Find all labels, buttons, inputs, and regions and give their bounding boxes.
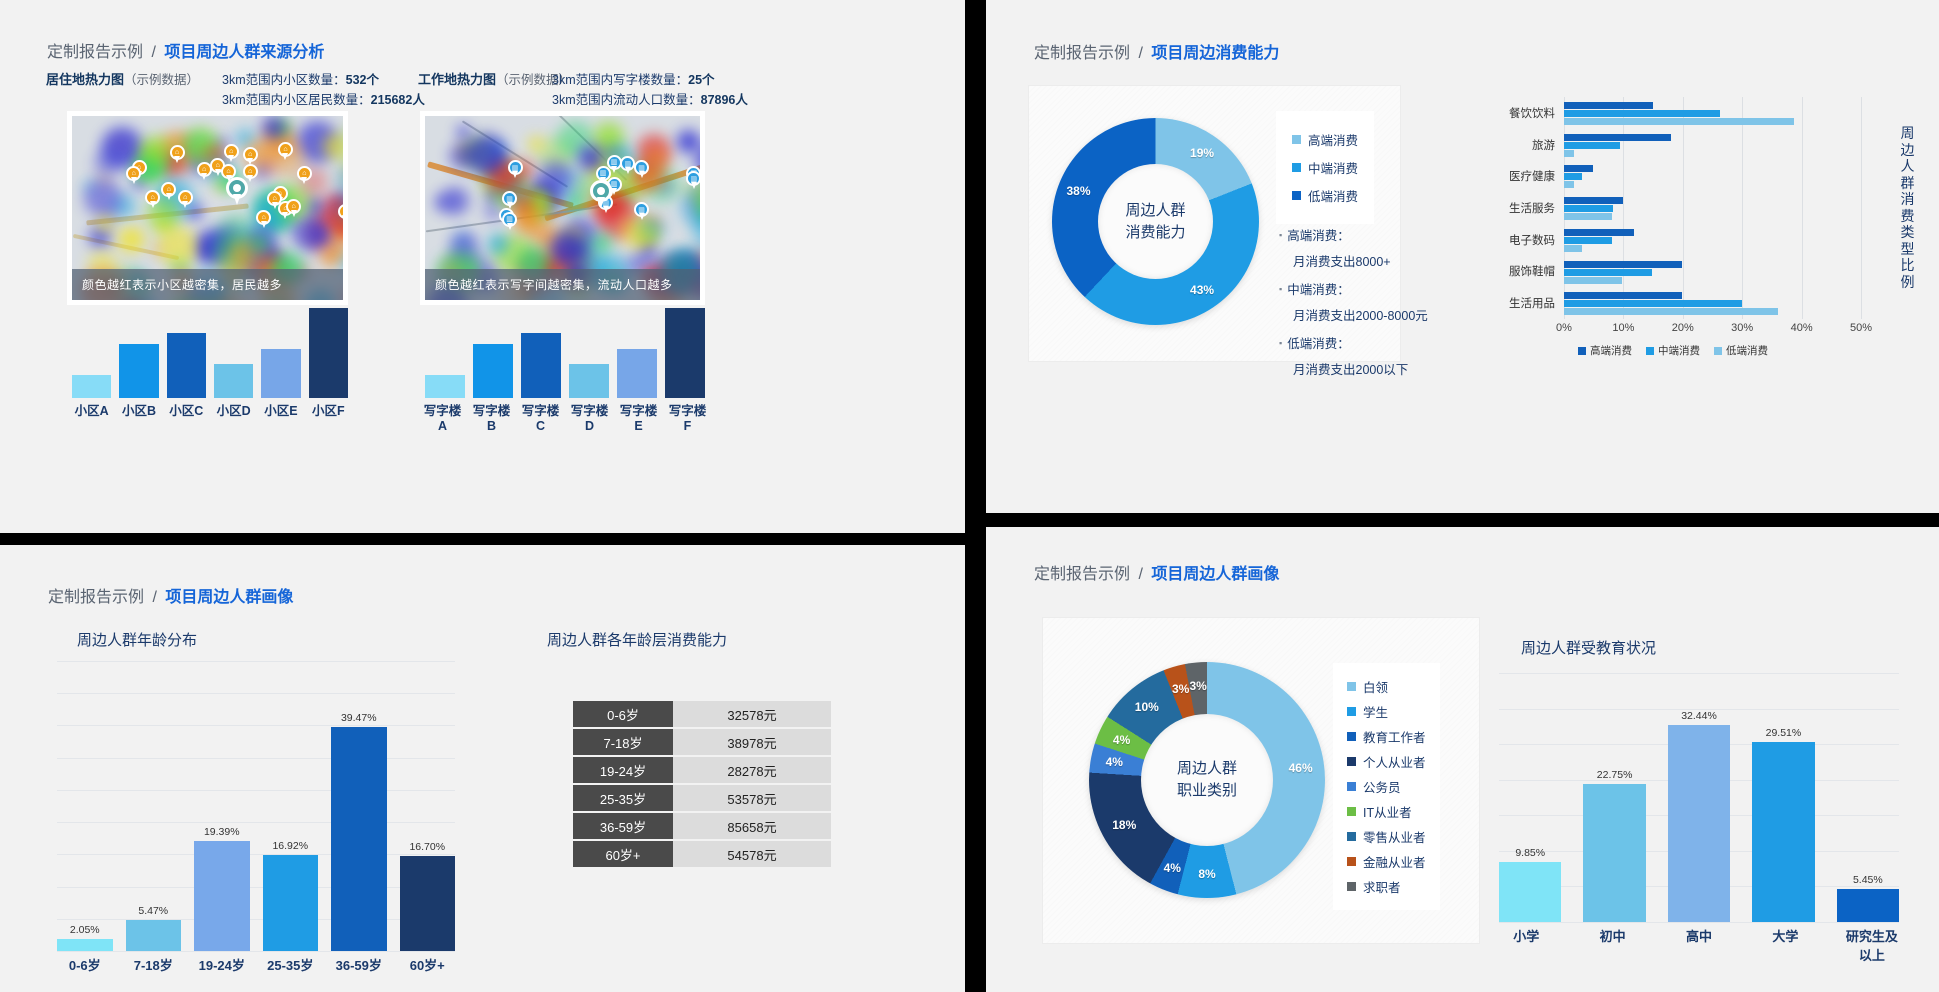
heat-blob <box>118 226 145 253</box>
legend-swatch <box>1347 732 1356 741</box>
bar[interactable] <box>261 349 300 399</box>
residential-stat-2: 3km范围内小区居民数量：215682人 <box>222 89 425 108</box>
bar-column[interactable]: 2.05% <box>57 661 113 951</box>
donut-slice-percent: 19% <box>1190 146 1214 160</box>
panel-portrait-occupation: 定制报告示例 / 项目周边人群画像 46%8%4%18%4%4%10%3%3% … <box>986 527 1939 992</box>
bar-column[interactable]: 32.44% <box>1668 673 1730 922</box>
bar-column[interactable]: 19.39% <box>194 661 250 951</box>
bar[interactable] <box>72 375 111 398</box>
bar[interactable] <box>665 308 705 398</box>
bar-category-label: 写字楼C <box>520 400 561 433</box>
work-bar-chart <box>425 308 705 398</box>
breadcrumb-prefix: 定制报告示例 <box>47 44 143 61</box>
table-row: 25-35岁53578元 <box>573 785 831 811</box>
breadcrumb-consumption: 定制报告示例 / 项目周边消费能力 <box>1034 39 1279 63</box>
bar[interactable] <box>1668 725 1730 922</box>
donut-slice-percent: 4% <box>1106 755 1123 769</box>
breadcrumb-portrait-left: 定制报告示例 / 项目周边人群画像 <box>48 583 293 607</box>
donut-slice-percent: 10% <box>1135 700 1159 714</box>
bar-category-label: 生活服务 <box>1486 200 1555 216</box>
bullet-group: 低端消费：月消费支出2000以下 <box>1279 333 1428 378</box>
bar[interactable] <box>167 333 206 398</box>
bar[interactable] <box>1564 261 1682 268</box>
legend-swatch <box>1292 135 1301 144</box>
work-title: 工作地热力图 <box>418 72 496 87</box>
bar-value-label: 2.05% <box>70 924 100 936</box>
legend-label: 学生 <box>1363 702 1388 721</box>
bullet-group: 高端消费：月消费支出8000+ <box>1279 225 1428 270</box>
legend-item[interactable]: 个人从业者 <box>1347 752 1426 771</box>
bar-value-label: 16.70% <box>409 841 445 853</box>
legend-swatch <box>1347 682 1356 691</box>
donut-center-line-2: 职业类别 <box>1177 780 1237 802</box>
residential-bar-labels: 小区A小区B小区C小区D小区E小区F <box>72 400 348 419</box>
bar-category-label: 高中 <box>1667 926 1731 964</box>
heat-blob <box>331 243 343 259</box>
table-cell-key: 60岁+ <box>573 841 673 867</box>
legend-label: 高端消费 <box>1308 130 1358 149</box>
bar-value-label: 5.47% <box>138 905 168 917</box>
legend-label: 高端消费 <box>1590 343 1632 358</box>
bar-category-label: 研究生及以上 <box>1840 926 1904 964</box>
residential-marker[interactable]: ⌂ <box>197 162 212 181</box>
legend-label: 白领 <box>1363 677 1388 696</box>
heat-blob <box>93 151 119 177</box>
bar-category-label: 7-18岁 <box>126 955 182 974</box>
legend-item[interactable]: 低端消费 <box>1292 186 1358 205</box>
legend-item[interactable]: 中端消费 <box>1646 343 1700 358</box>
bar-column[interactable]: 5.45% <box>1837 673 1899 922</box>
gridline <box>1802 97 1803 319</box>
gridline <box>1861 97 1862 319</box>
residential-marker[interactable]: ⌂ <box>161 182 176 201</box>
education-chart-title: 周边人群受教育状况 <box>1521 637 1656 658</box>
x-axis-tick-label: 0% <box>1556 322 1572 334</box>
bar-category-label: 小区E <box>261 400 300 419</box>
bar-column[interactable]: 39.47% <box>331 661 387 951</box>
work-heatmap-image[interactable]: ▥▥▥▥▥▥▥▥▥▥▥▥▥▥▥颜色越红表示写字间越密集，流动人口越多 <box>425 116 700 300</box>
donut-slice-percent: 4% <box>1113 733 1130 747</box>
residential-marker[interactable]: ⌂ <box>338 204 343 223</box>
bullet-title: 低端消费： <box>1279 333 1428 352</box>
table-row: 19-24岁28278元 <box>573 757 831 783</box>
legend-label: 低端消费 <box>1726 343 1768 358</box>
bar-column[interactable] <box>309 308 348 398</box>
age-chart-title: 周边人群年龄分布 <box>77 629 197 650</box>
bar-category-label: 0-6岁 <box>57 955 113 974</box>
legend-swatch <box>1347 807 1356 816</box>
bar[interactable] <box>1564 229 1634 236</box>
work-stat-2-value: 87896人 <box>701 93 748 107</box>
bar[interactable] <box>473 344 513 398</box>
consumption-type-x-axis: 0%10%20%30%40%50% <box>1486 322 1861 338</box>
bar[interactable] <box>569 364 609 398</box>
bar-column[interactable]: 22.75% <box>1583 673 1645 922</box>
bar-column[interactable] <box>167 308 206 398</box>
work-stat-1-value: 25个 <box>688 73 714 87</box>
donut-slice-percent: 8% <box>1198 867 1215 881</box>
donut-slice-percent: 4% <box>1164 861 1181 875</box>
breadcrumb-portrait-right: 定制报告示例 / 项目周边人群画像 <box>1034 560 1279 584</box>
table-cell-key: 36-59岁 <box>573 813 673 839</box>
residential-heatmap-caption: 颜色越红表示小区越密集，居民越多 <box>72 269 343 300</box>
residential-marker[interactable]: ⌂ <box>145 190 160 209</box>
bar[interactable] <box>400 856 456 951</box>
bar-column[interactable] <box>72 308 111 398</box>
bar-category-label: 旅游 <box>1486 137 1555 153</box>
donut-slice-percent: 46% <box>1289 761 1313 775</box>
legend-item[interactable]: IT从业者 <box>1347 802 1426 821</box>
heat-blob <box>660 181 672 193</box>
residential-stat-2-label: 3km范围内小区居民数量： <box>222 93 371 107</box>
consumption-type-side-label: 周 边 人 群 消 费 类 型 比 例 <box>1899 125 1916 290</box>
residential-marker[interactable]: ⌂ <box>278 142 293 161</box>
bar[interactable] <box>1564 173 1582 180</box>
breadcrumb-current: 项目周边消费能力 <box>1151 45 1279 62</box>
breadcrumb-source: 定制报告示例 / 项目周边人群来源分析 <box>47 38 324 62</box>
bar-column[interactable]: 29.51% <box>1752 673 1814 922</box>
work-stat-2-label: 3km范围内流动人口数量： <box>552 93 701 107</box>
legend-swatch <box>1646 347 1654 355</box>
legend-swatch <box>1347 832 1356 841</box>
heat-blob <box>539 161 572 194</box>
table-row: 60岁+54578元 <box>573 841 831 867</box>
bar[interactable] <box>126 920 182 951</box>
bar[interactable] <box>1564 300 1742 307</box>
x-axis-tick-label: 30% <box>1731 322 1753 334</box>
donut-slice-percent: 43% <box>1190 283 1214 297</box>
bar-value-label: 9.85% <box>1515 847 1545 859</box>
bullet-subtitle: 月消费支出8000+ <box>1293 251 1428 270</box>
donut-slice-percent: 3% <box>1189 679 1206 693</box>
bar[interactable] <box>214 364 253 398</box>
map-center-marker[interactable] <box>590 180 612 210</box>
bar-column[interactable]: 9.85% <box>1499 673 1561 922</box>
legend-swatch <box>1292 191 1301 200</box>
table-row: 0-6岁32578元 <box>573 701 831 727</box>
bar-column[interactable]: 5.47% <box>126 661 182 951</box>
bullet-group: 中端消费：月消费支出2000-8000元 <box>1279 279 1428 324</box>
work-stat-2: 3km范围内流动人口数量：87896人 <box>552 89 748 108</box>
breadcrumb-prefix: 定制报告示例 <box>48 589 144 606</box>
bar[interactable] <box>1564 165 1593 172</box>
legend-swatch <box>1347 782 1356 791</box>
bar[interactable] <box>1564 110 1720 117</box>
bar[interactable] <box>1564 277 1622 284</box>
bar-column[interactable] <box>119 308 158 398</box>
legend-item[interactable]: 低端消费 <box>1714 343 1768 358</box>
work-heatmap-header: 工作地热力图（示例数据） <box>418 69 571 88</box>
donut-slice-percent: 3% <box>1172 682 1189 696</box>
bar[interactable] <box>1564 142 1620 149</box>
bar-column[interactable]: 16.70% <box>400 661 456 951</box>
breadcrumb-separator: / <box>1138 566 1142 583</box>
heat-blob <box>322 134 343 159</box>
office-marker[interactable]: ▥ <box>634 202 649 221</box>
legend-swatch <box>1347 882 1356 891</box>
bar-column[interactable] <box>473 308 513 398</box>
x-axis-tick-label: 40% <box>1791 322 1813 334</box>
legend-label: IT从业者 <box>1363 802 1412 821</box>
age-bar-chart: 2.05%5.47%19.39%16.92%39.47%16.70% <box>57 661 455 951</box>
residential-marker[interactable]: ⌂ <box>256 210 271 229</box>
bar-value-label: 29.51% <box>1766 727 1802 739</box>
occupation-donut-chart[interactable]: 46%8%4%18%4%4%10%3%3% 周边人群 职业类别 <box>1089 662 1325 898</box>
breadcrumb-current: 项目周边人群画像 <box>1151 566 1279 583</box>
table-cell-value: 32578元 <box>673 701 831 727</box>
donut-center-line-1: 周边人群 <box>1177 758 1237 780</box>
office-marker[interactable]: ▥ <box>502 212 517 231</box>
residential-marker[interactable]: ⌂ <box>297 166 312 185</box>
x-axis-tick-label: 20% <box>1672 322 1694 334</box>
work-heatmap-caption: 颜色越红表示写字间越密集，流动人口越多 <box>425 269 700 300</box>
bar-value-label: 19.39% <box>204 826 240 838</box>
consumption-bullets: 高端消费：月消费支出8000+中端消费：月消费支出2000-8000元低端消费：… <box>1279 225 1428 387</box>
heat-blob <box>466 134 507 175</box>
legend-item[interactable]: 金融从业者 <box>1347 852 1426 871</box>
table-cell-value: 28278元 <box>673 757 831 783</box>
bar-category-label: 19-24岁 <box>194 955 250 974</box>
consumption-type-legend: 高端消费中端消费低端消费 <box>1578 343 1768 358</box>
legend-swatch <box>1292 163 1301 172</box>
bar-column[interactable] <box>665 308 705 398</box>
legend-swatch <box>1578 347 1586 355</box>
donut-center-line-2: 消费能力 <box>1125 222 1185 244</box>
age-table-title: 周边人群各年龄层消费能力 <box>547 629 727 650</box>
bar-column[interactable]: 16.92% <box>263 661 319 951</box>
consumption-legend: 高端消费中端消费低端消费 <box>1276 111 1374 224</box>
bar-category-label: 小区A <box>72 400 111 419</box>
residential-stat-1: 3km范围内小区数量：532个 <box>222 69 379 88</box>
bar[interactable] <box>194 841 250 951</box>
age-spending-table: 0-6岁32578元7-18岁38978元19-24岁28278元25-35岁5… <box>573 699 831 869</box>
x-axis-tick-label: 50% <box>1850 322 1872 334</box>
bar[interactable] <box>1564 237 1612 244</box>
heat-blob <box>84 179 122 217</box>
bar[interactable] <box>331 727 387 951</box>
bar[interactable] <box>1564 269 1652 276</box>
bar-category-label: 小区F <box>309 400 348 419</box>
gridline <box>1499 922 1899 923</box>
legend-label: 求职者 <box>1363 877 1401 896</box>
bar[interactable] <box>1564 205 1613 212</box>
gridline <box>1683 97 1684 319</box>
bar-category-label: 生活用品 <box>1486 295 1555 311</box>
donut-center-label: 周边人群 消费能力 <box>1098 164 1213 279</box>
bar-column[interactable] <box>214 308 253 398</box>
residential-heatmap-frame: ⌂⌂⌂⌂⌂⌂⌂⌂⌂⌂⌂⌂⌂⌂⌂⌂⌂⌂⌂⌂颜色越红表示小区越密集，居民越多 <box>67 111 348 305</box>
table-cell-key: 7-18岁 <box>573 729 673 755</box>
table-cell-key: 19-24岁 <box>573 757 673 783</box>
heat-blob <box>592 233 612 253</box>
bar[interactable] <box>1564 118 1794 125</box>
breadcrumb-separator: / <box>1138 45 1142 62</box>
gridline <box>1742 97 1743 319</box>
gridline <box>1623 97 1624 319</box>
bar[interactable] <box>617 349 657 399</box>
bar[interactable] <box>1564 308 1778 315</box>
legend-label: 中端消费 <box>1308 158 1358 177</box>
bar-column[interactable] <box>569 308 609 398</box>
bullet-title: 高端消费： <box>1279 225 1428 244</box>
legend-item[interactable]: 教育工作者 <box>1347 727 1426 746</box>
residential-stat-2-value: 215682人 <box>371 93 425 107</box>
bar[interactable] <box>1564 150 1574 157</box>
bar-category-label: 餐饮饮料 <box>1486 105 1555 121</box>
bar-category-label: 小区B <box>119 400 158 419</box>
table-row: 7-18岁38978元 <box>573 729 831 755</box>
legend-label: 中端消费 <box>1658 343 1700 358</box>
bar[interactable] <box>263 855 319 951</box>
bar-column[interactable] <box>521 308 561 398</box>
legend-label: 低端消费 <box>1308 186 1358 205</box>
residential-marker[interactable]: ⌂ <box>286 199 301 218</box>
x-axis-tick-label: 10% <box>1612 322 1634 334</box>
bar[interactable] <box>57 939 113 951</box>
residential-heatmap-image[interactable]: ⌂⌂⌂⌂⌂⌂⌂⌂⌂⌂⌂⌂⌂⌂⌂⌂⌂⌂⌂⌂颜色越红表示小区越密集，居民越多 <box>72 116 343 300</box>
table-cell-key: 0-6岁 <box>573 701 673 727</box>
bar-category-label: 初中 <box>1580 926 1644 964</box>
breadcrumb-prefix: 定制报告示例 <box>1034 45 1130 62</box>
bar[interactable] <box>1564 134 1671 141</box>
bar[interactable] <box>119 344 158 398</box>
legend-swatch <box>1347 707 1356 716</box>
work-stat-1: 3km范围内写字楼数量：25个 <box>552 69 715 88</box>
bar-category-label: 写字楼A <box>422 400 463 433</box>
table-cell-key: 25-35岁 <box>573 785 673 811</box>
residential-stat-1-label: 3km范围内小区数量： <box>222 73 346 87</box>
bar-category-label: 写字楼B <box>471 400 512 433</box>
legend-item[interactable]: 高端消费 <box>1292 130 1358 149</box>
legend-swatch <box>1347 757 1356 766</box>
legend-swatch <box>1347 857 1356 866</box>
bar-category-label: 大学 <box>1753 926 1817 964</box>
breadcrumb-current: 项目周边人群来源分析 <box>164 44 324 61</box>
donut-slice-percent: 18% <box>1112 818 1136 832</box>
bar[interactable] <box>1564 213 1612 220</box>
panel-portrait-age: 定制报告示例 / 项目周边人群画像 周边人群年龄分布 周边人群各年龄层消费能力 … <box>0 545 965 992</box>
education-bar-chart: 9.85%22.75%32.44%29.51%5.45% <box>1499 673 1899 922</box>
occupation-donut-card: 46%8%4%18%4%4%10%3%3% 周边人群 职业类别 白领学生教育工作… <box>1042 617 1480 944</box>
legend-item[interactable]: 白领 <box>1347 677 1426 696</box>
office-marker[interactable]: ▥ <box>686 171 700 190</box>
residential-marker[interactable]: ⌂ <box>126 166 141 185</box>
residential-title: 居住地热力图 <box>46 72 124 87</box>
bar-category-label: 写字楼F <box>667 400 708 433</box>
bar[interactable] <box>1564 197 1623 204</box>
office-marker[interactable]: ▥ <box>620 156 635 175</box>
residential-bar-chart <box>72 308 348 398</box>
legend-swatch <box>1714 347 1722 355</box>
map-center-marker[interactable] <box>226 177 248 207</box>
breadcrumb-current: 项目周边人群画像 <box>165 589 293 606</box>
table-cell-value: 85658元 <box>673 813 831 839</box>
bar[interactable] <box>1837 889 1899 922</box>
slide-deck: 定制报告示例 / 项目周边人群来源分析 居住地热力图（示例数据） 3km范围内小… <box>0 0 1939 992</box>
bar-category-label: 电子数码 <box>1486 232 1555 248</box>
legend-item[interactable]: 学生 <box>1347 702 1426 721</box>
occupation-legend: 白领学生教育工作者个人从业者公务员IT从业者零售从业者金融从业者求职者 <box>1333 663 1440 910</box>
bullet-subtitle: 月消费支出2000-8000元 <box>1293 305 1428 324</box>
bar-value-label: 5.45% <box>1853 874 1883 886</box>
bar[interactable] <box>1564 245 1582 252</box>
office-marker[interactable]: ▥ <box>634 160 649 179</box>
bar[interactable] <box>1564 292 1682 299</box>
consumption-donut-chart[interactable]: 19%43%38% 周边人群 消费能力 <box>1052 118 1259 325</box>
legend-label: 零售从业者 <box>1363 827 1426 846</box>
consumption-donut-card: 19%43%38% 周边人群 消费能力 高端消费中端消费低端消费 高端消费：月消… <box>1028 85 1401 362</box>
heat-blob <box>308 224 330 246</box>
heat-blob <box>457 126 470 139</box>
residential-heatmap-header: 居住地热力图（示例数据） <box>46 69 199 88</box>
office-marker[interactable]: ▥ <box>508 160 523 179</box>
bar[interactable] <box>1564 181 1574 188</box>
heat-blob <box>262 116 285 139</box>
bar-category-label: 写字楼E <box>618 400 659 433</box>
legend-label: 教育工作者 <box>1363 727 1426 746</box>
residential-marker[interactable]: ⌂ <box>224 144 239 163</box>
table-row: 36-59岁85658元 <box>573 813 831 839</box>
breadcrumb-separator: / <box>151 44 155 61</box>
work-bar-labels: 写字楼A写字楼B写字楼C写字楼D写字楼E写字楼F <box>422 400 708 433</box>
donut-center-line-1: 周边人群 <box>1125 200 1185 222</box>
residential-marker[interactable]: ⌂ <box>178 190 193 209</box>
bar-category-label: 小区D <box>214 400 253 419</box>
legend-label: 金融从业者 <box>1363 852 1426 871</box>
bar-column[interactable] <box>425 308 465 398</box>
age-bar-labels: 0-6岁7-18岁19-24岁25-35岁36-59岁60岁+ <box>57 955 455 974</box>
bar-value-label: 39.47% <box>341 712 377 724</box>
legend-item[interactable]: 零售从业者 <box>1347 827 1426 846</box>
bar-category-label: 25-35岁 <box>263 955 319 974</box>
bar-value-label: 16.92% <box>272 840 308 852</box>
bar-category-label: 小学 <box>1494 926 1558 964</box>
legend-item[interactable]: 求职者 <box>1347 877 1426 896</box>
bar-category-label: 小区C <box>167 400 206 419</box>
legend-item[interactable]: 中端消费 <box>1292 158 1358 177</box>
table-cell-value: 54578元 <box>673 841 831 867</box>
bar[interactable] <box>309 308 348 398</box>
bar[interactable] <box>1564 102 1653 109</box>
heat-blob <box>488 234 508 254</box>
breadcrumb-separator: / <box>152 589 156 606</box>
legend-item[interactable]: 高端消费 <box>1578 343 1632 358</box>
bar[interactable] <box>1499 862 1561 922</box>
donut-center-label: 周边人群 职业类别 <box>1141 714 1273 846</box>
bar-category-label: 36-59岁 <box>331 955 387 974</box>
bar-column[interactable] <box>261 308 300 398</box>
residential-stat-1-value: 532个 <box>346 73 379 87</box>
bullet-title: 中端消费： <box>1279 279 1428 298</box>
heat-blob <box>677 130 700 153</box>
heat-blob <box>641 245 655 259</box>
bar[interactable] <box>425 375 465 398</box>
bar-value-label: 22.75% <box>1597 769 1633 781</box>
work-stat-1-label: 3km范围内写字楼数量： <box>552 73 688 87</box>
bar-column[interactable] <box>617 308 657 398</box>
bar[interactable] <box>1583 784 1645 922</box>
bullet-subtitle: 月消费支出2000以下 <box>1293 359 1428 378</box>
heat-blob <box>158 226 198 266</box>
bar[interactable] <box>521 333 561 398</box>
panel-consumption: 定制报告示例 / 项目周边消费能力 19%43%38% 周边人群 消费能力 高端… <box>986 0 1939 513</box>
legend-label: 个人从业者 <box>1363 752 1426 771</box>
bar[interactable] <box>1752 742 1814 922</box>
table-cell-value: 53578元 <box>673 785 831 811</box>
residential-marker[interactable]: ⌂ <box>170 145 185 164</box>
legend-item[interactable]: 公务员 <box>1347 777 1426 796</box>
heat-blob <box>97 216 113 232</box>
